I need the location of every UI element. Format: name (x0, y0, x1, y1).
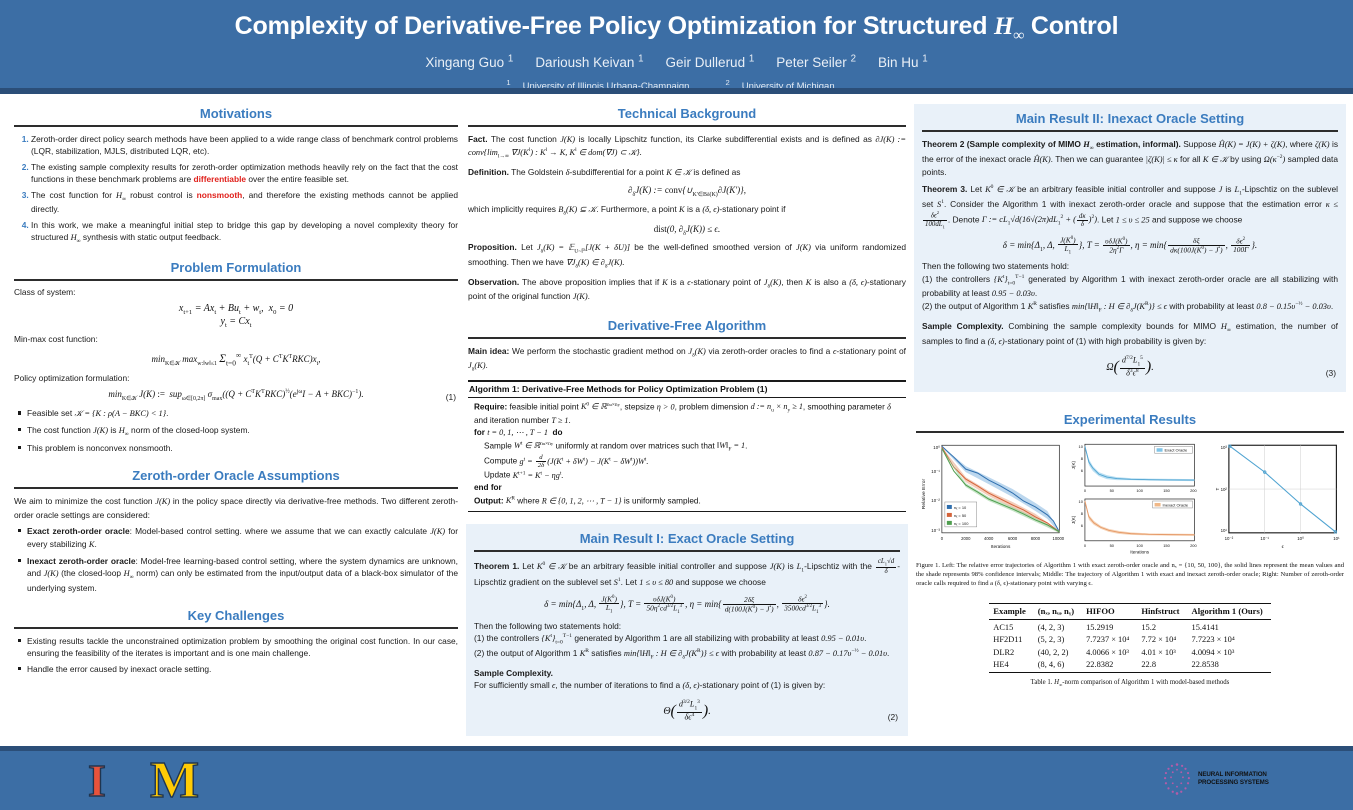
algorithm-box: Algorithm 1: Derivative-Free Methods for… (468, 380, 906, 512)
svg-text:10³: 10³ (1220, 446, 1227, 451)
list-item: Inexact zeroth-order oracle: Model-free … (27, 555, 458, 594)
table-header-cell: Hinfstruct (1137, 604, 1187, 620)
svg-text:Iterations: Iterations (991, 544, 1011, 550)
label-minmax-cost: Min-max cost function: (14, 334, 458, 344)
table-cell: 15.2 (1137, 620, 1187, 634)
section-title-motivations: Motivations (14, 104, 458, 125)
section-experimental-results: Experimental Results Relative Error 10⁰ … (916, 410, 1344, 687)
list-item: Handle the error caused by inexact oracl… (27, 663, 458, 675)
section-divider (14, 125, 458, 127)
section-title-main-result-1: Main Result I: Exact Oracle Setting (474, 529, 900, 550)
section-divider (474, 550, 900, 552)
svg-text:10⁻¹: 10⁻¹ (1260, 536, 1269, 541)
svg-text:Relative Error: Relative Error (921, 479, 927, 510)
section-divider (468, 125, 906, 127)
svg-text:6000: 6000 (1008, 536, 1018, 541)
algorithm-line-require: Require: feasible initial point K0 ∈ ℝnu… (474, 401, 905, 428)
equation-number-3: (3) (1326, 368, 1336, 378)
proposition-lead: Proposition. (468, 242, 517, 252)
table-cell: HE4 (989, 658, 1033, 672)
author-item: Geir Dullerud 1 (666, 55, 755, 70)
page-title: Complexity of Derivative-Free Policy Opt… (0, 0, 1353, 44)
algorithm-line-update: Update Kt+1 = Kt − ηgt. (474, 469, 905, 482)
svg-text:200: 200 (1190, 488, 1197, 493)
table-header-cell: Example (989, 604, 1033, 620)
table-header-cell: (nₓ, nᵤ, nᵧ) (1034, 604, 1082, 620)
equation-system: xt+1 = Axt + But + wt, x0 = 0 yt = Cxt (14, 303, 458, 329)
section-divider (922, 130, 1338, 132)
column-left: Motivations Zeroth-order direct policy s… (14, 104, 458, 687)
equation-goldstein: ∂δJ(K) := conv{∪K'∈Bδ(K)∂J(K')}, (468, 185, 906, 198)
svg-text:100: 100 (1137, 543, 1144, 548)
section-title-algorithm: Derivative-Free Algorithm (468, 316, 906, 337)
poster-root: Complexity of Derivative-Free Policy Opt… (0, 0, 1353, 810)
zeroth-order-intro: We aim to minimize the cost function J(K… (14, 495, 458, 520)
list-item: In this work, we make a meaningful initi… (31, 219, 458, 246)
list-item: Existing results tackle the unconstraine… (27, 635, 458, 659)
svg-text:8: 8 (1081, 457, 1084, 462)
section-divider (468, 337, 906, 339)
author-item: Darioush Keivan 1 (535, 55, 643, 70)
table-header-row: Example (nₓ, nᵤ, nᵧ) HIFOO Hinfstruct Al… (989, 604, 1270, 620)
equation-number-1: (1) (446, 392, 456, 402)
theorem3-statement-2: (2) the output of Algorithm 1 KR satisfi… (922, 300, 1338, 315)
list-item: The cost function for H∞ robust control … (31, 189, 458, 216)
section-title-main-result-2: Main Result II: Inexact Oracle Setting (922, 109, 1338, 130)
definition-after: which implicitly requires Bδ(K) ⊆ 𝒦. Fur… (468, 203, 906, 218)
svg-text:50: 50 (1110, 543, 1115, 548)
list-item: Feasible set 𝒦 = {K : ρ(A − BKC) < 1}. (27, 407, 458, 420)
algorithm-body: Require: feasible initial point K0 ∈ ℝnu… (468, 398, 906, 511)
svg-text:T: T (1215, 488, 1220, 491)
table-cell: 15.2919 (1082, 620, 1137, 634)
definition-lead: Definition. (468, 167, 509, 177)
poster-header: Complexity of Derivative-Free Policy Opt… (0, 0, 1353, 88)
theorem1-statement-2: (2) the output of Algorithm 1 KR satisfi… (474, 647, 900, 662)
svg-text:10⁰: 10⁰ (1297, 536, 1304, 541)
main-idea-lead: Main idea: (468, 346, 509, 356)
algorithm-line-endfor: end for (474, 482, 905, 494)
theorem1-statement-1: (1) the controllers {Kt}t=0T−1 generated… (474, 632, 900, 647)
table-cell: 22.8 (1137, 658, 1187, 672)
equation-3: Ω(d7/2L15δ3ϵ8). (3) (922, 356, 1338, 378)
emphasis-nonsmooth: nonsmooth (197, 190, 243, 200)
section-derivative-free-algorithm: Derivative-Free Algorithm Main idea: We … (468, 316, 906, 513)
list-item: The existing sample complexity results f… (31, 161, 458, 185)
equation-parameter-choice-1: δ = min{Δ1, Δ, J(K0)L1}, T = υδJ(K0)50η2… (474, 595, 900, 615)
table-cell: (8, 4, 6) (1034, 658, 1082, 672)
table-cell: 4.0094 × 10³ (1188, 646, 1271, 658)
column-right: Main Result II: Inexact Oracle Setting T… (916, 104, 1344, 699)
section-main-result-2: Main Result II: Inexact Oracle Setting T… (914, 104, 1346, 392)
bullet-lead: Inexact zeroth-order oracle (27, 556, 136, 566)
svg-text:Exact Oracle: Exact Oracle (1165, 448, 1189, 453)
svg-text:J(K): J(K) (1071, 516, 1076, 525)
table-row: HE4 (8, 4, 6) 22.8382 22.8 22.8538 (989, 658, 1270, 672)
footer-divider (0, 746, 1353, 751)
svg-text:150: 150 (1164, 488, 1171, 493)
neurips-line-1: NEURAL INFORMATION (1198, 771, 1269, 779)
table-cell: 22.8382 (1082, 658, 1137, 672)
svg-text:6: 6 (1081, 523, 1084, 528)
section-title-key-challenges: Key Challenges (14, 606, 458, 627)
neurips-wordmark: NEURAL INFORMATION PROCESSING SYSTEMS (1198, 771, 1269, 788)
table-cell: 22.8538 (1188, 658, 1271, 672)
emphasis-differentiable: differentiable (193, 174, 246, 184)
equation-minmax-cost: minK∈𝒦 maxw:‖w‖≤1 Σt=0∞ xtT(Q + CTKTRKC)… (14, 350, 458, 368)
table-cell: 7.7223 × 10⁴ (1188, 634, 1271, 646)
svg-text:10000: 10000 (1053, 536, 1065, 541)
definition-paragraph: Definition. The Goldstein δ-subdifferent… (468, 166, 906, 179)
section-problem-formulation: Problem Formulation Class of system: xt+… (14, 258, 458, 454)
label-policy-optimization: Policy optimization formulation: (14, 373, 458, 383)
equation-parameter-choice-2: δ = min{Δ1, Δ, J(K0)L1}, T = υδJ(K0)2η2Γ… (922, 236, 1338, 256)
svg-text:10¹: 10¹ (1333, 536, 1340, 541)
fact-lead: Fact. (468, 134, 488, 144)
theorem3-lead: Theorem 3. (922, 184, 967, 194)
label-class-of-system: Class of system: (14, 287, 458, 297)
hinf-symbol: H∞ (71, 233, 81, 242)
poster-footer (0, 746, 1353, 810)
zeroth-order-bullets: Exact zeroth-order oracle: Model-based c… (14, 525, 458, 594)
section-title-zeroth-order: Zeroth-order Oracle Assumptions (14, 466, 458, 487)
svg-text:10¹: 10¹ (1220, 528, 1227, 533)
proposition-paragraph: Proposition. Let Jδ(K) = 𝔼U~ℙ[J(K + δU)]… (468, 241, 906, 270)
section-divider (916, 431, 1344, 433)
author-item: Bin Hu 1 (878, 55, 928, 70)
svg-text:4000: 4000 (984, 536, 994, 541)
section-key-challenges: Key Challenges Existing results tackle t… (14, 606, 458, 675)
motivations-list: Zeroth-order direct policy search method… (14, 133, 458, 246)
bullet-lead: Exact zeroth-order oracle (27, 526, 130, 536)
sample-complexity-text-1: For sufficiently small ϵ, the number of … (474, 680, 825, 690)
figure-caption: Figure 1. Left: The relative error traje… (916, 562, 1344, 589)
svg-text:8000: 8000 (1031, 536, 1041, 541)
svg-text:Inexact Oracle: Inexact Oracle (1163, 503, 1189, 508)
fact-paragraph: Fact. The cost function J(K) is locally … (468, 133, 906, 161)
main-idea-paragraph: Main idea: We perform the stochastic gra… (468, 345, 906, 374)
svg-text:J(K): J(K) (1071, 461, 1076, 470)
equation-policy-optimization: minK∈𝒦 J(K) := supω∈[0,2π] σmax((Q + CTK… (14, 389, 458, 403)
section-main-result-1: Main Result I: Exact Oracle Setting Theo… (466, 524, 908, 736)
section-divider (14, 487, 458, 489)
svg-text:10⁻²: 10⁻² (1224, 536, 1233, 541)
problem-bullets: Feasible set 𝒦 = {K : ρ(A − BKC) < 1}. T… (14, 407, 458, 454)
results-table: Example (nₓ, nᵤ, nᵧ) HIFOO Hinfstruct Al… (989, 603, 1270, 673)
theorem1-lead: Theorem 1. (474, 561, 519, 571)
header-divider (0, 88, 1353, 94)
algorithm-title: Algorithm 1: Derivative-Free Methods for… (468, 382, 906, 397)
algorithm-line-for: for t = 0, 1, ⋯ , T − 1 do (474, 427, 905, 439)
svg-text:10: 10 (1079, 499, 1084, 504)
svg-text:10: 10 (1079, 445, 1084, 450)
svg-text:nₓ = 10: nₓ = 10 (954, 505, 967, 510)
svg-text:10⁻¹: 10⁻¹ (931, 470, 940, 475)
table-cell: 4.01 × 10³ (1137, 646, 1187, 658)
section-divider (14, 279, 458, 281)
svg-text:10⁻²: 10⁻² (931, 498, 940, 503)
sample-complexity-lead-1: Sample Complexity. (474, 668, 553, 678)
theorem3-sample-complexity: Sample Complexity. Combining the sample … (922, 320, 1338, 348)
section-motivations: Motivations Zeroth-order direct policy s… (14, 104, 458, 246)
table-row: DLR2 (40, 2, 2) 4.0066 × 10³ 4.01 × 10³ … (989, 646, 1270, 658)
svg-text:8: 8 (1081, 511, 1084, 516)
svg-text:10⁰: 10⁰ (933, 446, 940, 451)
algorithm-line-output: Output: KR where R ∈ {0, 1, 2, ⋯ , T − 1… (474, 495, 905, 508)
chart-oracle-trajectories: J(K) 10 8 6 0 50 100 150 200 Exact Oracl (1069, 439, 1200, 557)
svg-text:nₓ = 100: nₓ = 100 (954, 521, 969, 526)
author-item: Xingang Guo 1 (425, 55, 513, 70)
illinois-logo-icon: I (88, 758, 106, 804)
list-item: This problem is nonconvex nonsmooth. (27, 442, 458, 454)
svg-text:6: 6 (1081, 469, 1084, 474)
svg-text:150: 150 (1164, 543, 1171, 548)
svg-text:ϵ: ϵ (1281, 545, 1283, 550)
svg-text:50: 50 (1110, 488, 1115, 493)
svg-text:2000: 2000 (961, 536, 971, 541)
theorem2-lead: Theorem 2 (Sample complexity of MIMO H∞ … (922, 139, 1181, 149)
theorem3-then: Then the following two statements hold: (922, 260, 1338, 272)
section-zeroth-order-assumptions: Zeroth-order Oracle Assumptions We aim t… (14, 466, 458, 593)
author-item: Peter Seiler 2 (776, 55, 856, 70)
table-cell: (4, 2, 3) (1034, 620, 1082, 634)
table-cell: 15.4141 (1188, 620, 1271, 634)
svg-text:10²: 10² (1220, 488, 1227, 493)
svg-text:10⁻³: 10⁻³ (931, 528, 940, 533)
theorem3-paragraph: Theorem 3. Let K0 ∈ 𝒦 be an arbitrary fe… (922, 183, 1338, 230)
equation-number-2: (2) (888, 712, 898, 722)
observation-lead: Observation. (468, 277, 519, 287)
table-cell: 4.0066 × 10³ (1082, 646, 1137, 658)
sample-complexity-lead-2: Sample Complexity. (922, 321, 1004, 331)
figure-row: Relative Error 10⁰ 10⁻¹ 10⁻² 10⁻³ 0 2000… (916, 439, 1344, 557)
algorithm-rule-bottom (468, 511, 906, 513)
section-title-problem-formulation: Problem Formulation (14, 258, 458, 279)
table-cell: (5, 2, 3) (1034, 634, 1082, 646)
table-cell: 7.72 × 10⁴ (1137, 634, 1187, 646)
table-row: AC15 (4, 2, 3) 15.2919 15.2 15.4141 (989, 620, 1270, 634)
table-cell: HF2D11 (989, 634, 1033, 646)
section-title-experimental-results: Experimental Results (916, 410, 1344, 431)
theorem1-paragraph: Theorem 1. Let K0 ∈ 𝒦 be an arbitrary fe… (474, 558, 900, 589)
key-challenges-list: Existing results tackle the unconstraine… (14, 635, 458, 675)
svg-text:Iterations: Iterations (1131, 550, 1150, 555)
title-suffix: Control (1024, 12, 1118, 40)
table-caption: Table 1. H∞-norm comparison of Algorithm… (916, 679, 1344, 687)
list-item: Zeroth-order direct policy search method… (31, 133, 458, 157)
svg-text:0: 0 (941, 536, 944, 541)
hinf-symbol: H∞ (116, 191, 126, 200)
table-header-cell: HIFOO (1082, 604, 1137, 620)
chart-oracle-calls: 10³ 10² 10¹ T 10⁻² 10⁻¹ 10⁰ 10¹ ϵ (1205, 439, 1344, 557)
observation-paragraph: Observation. The above proposition impli… (468, 276, 906, 304)
title-hinf-icon: H∞ (994, 13, 1024, 40)
svg-text:100: 100 (1137, 488, 1144, 493)
table-cell: AC15 (989, 620, 1033, 634)
theorem3-statement-1: (1) the controllers {Kt}t=0T−1 generated… (922, 273, 1338, 301)
section-divider (14, 627, 458, 629)
table-header-cell: Algorithm 1 (Ours) (1188, 604, 1271, 620)
algorithm-line-compute: Compute gt = d2δ(J(Kt + δWt) − J(Kt − δW… (474, 454, 905, 469)
theorem1-then: Then the following two statements hold: (474, 620, 900, 632)
equation-2: Θ(d3/2L13δϵ4). (2) (474, 700, 900, 722)
svg-text:0: 0 (1084, 488, 1087, 493)
theorem1-sample-complexity: Sample Complexity. For sufficiently smal… (474, 667, 900, 692)
neurips-brain-icon (1160, 760, 1194, 798)
list-item: Exact zeroth-order oracle: Model-based c… (27, 525, 458, 551)
column-middle: Technical Background Fact. The cost func… (468, 104, 906, 748)
section-technical-background: Technical Background Fact. The cost func… (468, 104, 906, 304)
table-row: HF2D11 (5, 2, 3) 7.7237 × 10⁴ 7.72 × 10⁴… (989, 634, 1270, 646)
equation-dist: dist(0, ∂δJ(K)) ≤ ϵ. (468, 224, 906, 237)
author-list: Xingang Guo 1Darioush Keivan 1Geir Dulle… (0, 53, 1353, 71)
table-cell: 7.7237 × 10⁴ (1082, 634, 1137, 646)
algorithm-line-sample: Sample Wt ∈ ℝnu×ny uniformly at random o… (474, 440, 905, 454)
title-prefix: Complexity of Derivative-Free Policy Opt… (235, 12, 994, 40)
svg-text:0: 0 (1084, 543, 1087, 548)
table-cell: DLR2 (989, 646, 1033, 658)
michigan-logo-icon: M (150, 755, 199, 807)
neurips-logo: NEURAL INFORMATION PROCESSING SYSTEMS (1160, 760, 1269, 798)
table-cell: (40, 2, 2) (1034, 646, 1082, 658)
theorem2-paragraph: Theorem 2 (Sample complexity of MIMO H∞ … (922, 138, 1338, 178)
list-item: The cost function J(K) is H∞ norm of the… (27, 424, 458, 439)
neurips-line-2: PROCESSING SYSTEMS (1198, 779, 1269, 787)
chart-relative-error: Relative Error 10⁰ 10⁻¹ 10⁻² 10⁻³ 0 2000… (916, 439, 1065, 557)
svg-text:200: 200 (1190, 543, 1197, 548)
section-title-technical-background: Technical Background (468, 104, 906, 125)
svg-text:nₓ = 50: nₓ = 50 (954, 513, 967, 518)
